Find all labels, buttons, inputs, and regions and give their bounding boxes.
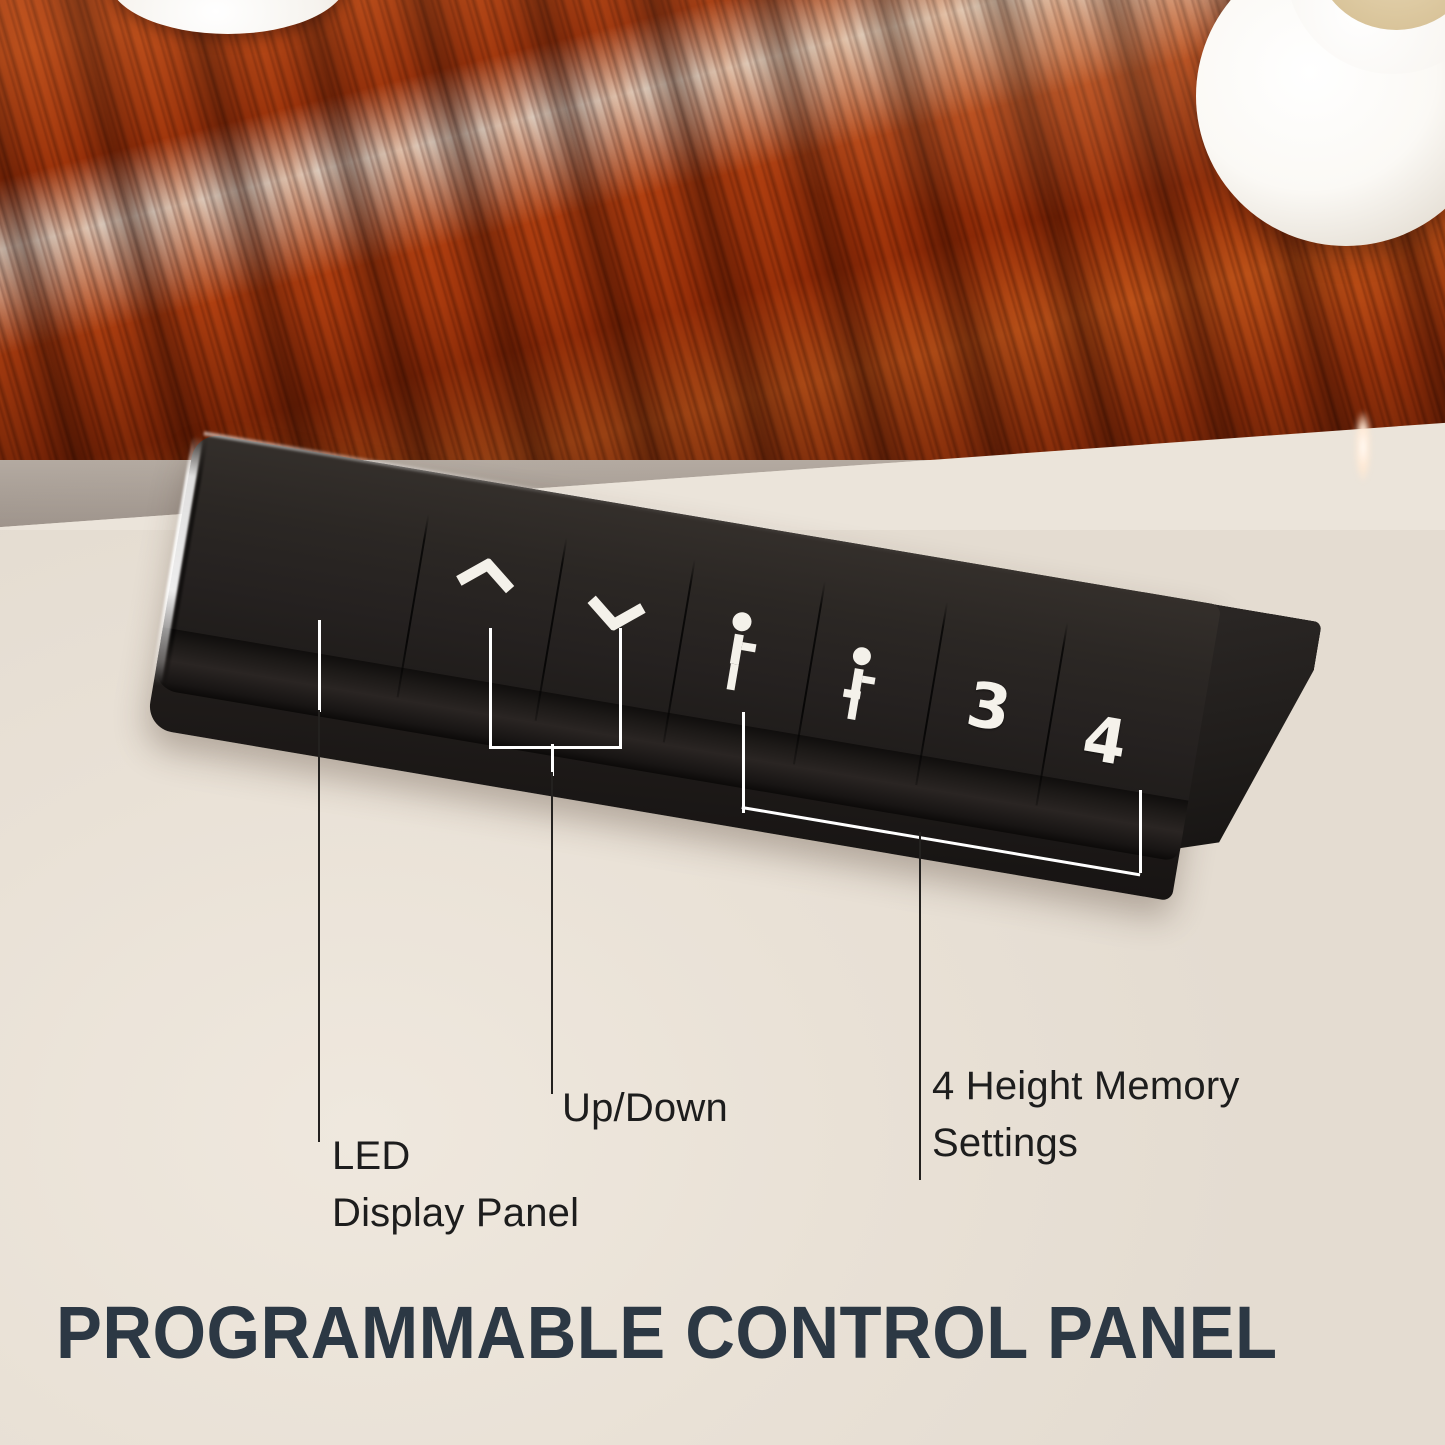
leader-bracket-memory-right [1139,790,1142,873]
memory-preset-3-label: 3 [962,673,1015,741]
control-panel-assembly: 3 4 [196,432,1266,902]
sitting-person-icon [832,643,891,732]
memory-preset-4-label: 4 [1078,707,1131,775]
led-display-panel[interactable] [172,462,424,692]
leader-line-led-upper [318,620,321,712]
chevron-up-icon [453,554,519,602]
callout-up-down: Up/Down [562,1080,728,1137]
callout-led-display-panel: LED Display Panel [332,1128,579,1242]
leader-bracket-memory-left [742,712,745,813]
leader-bracket-up-down [489,628,622,749]
product-feature-image: 3 4 LED Display Panel Up/Down 4 Height M… [0,0,1445,1445]
callout-height-memory: 4 Height Memory Settings [932,1058,1240,1172]
page-title: PROGRAMMABLE CONTROL PANEL [56,1296,1278,1370]
leader-line-memory [919,832,921,1180]
control-panel: 3 4 [146,432,1221,901]
leader-line-up-down-lower [551,772,553,1094]
leader-line-led-lower [318,710,320,1142]
standing-person-icon [710,609,770,701]
